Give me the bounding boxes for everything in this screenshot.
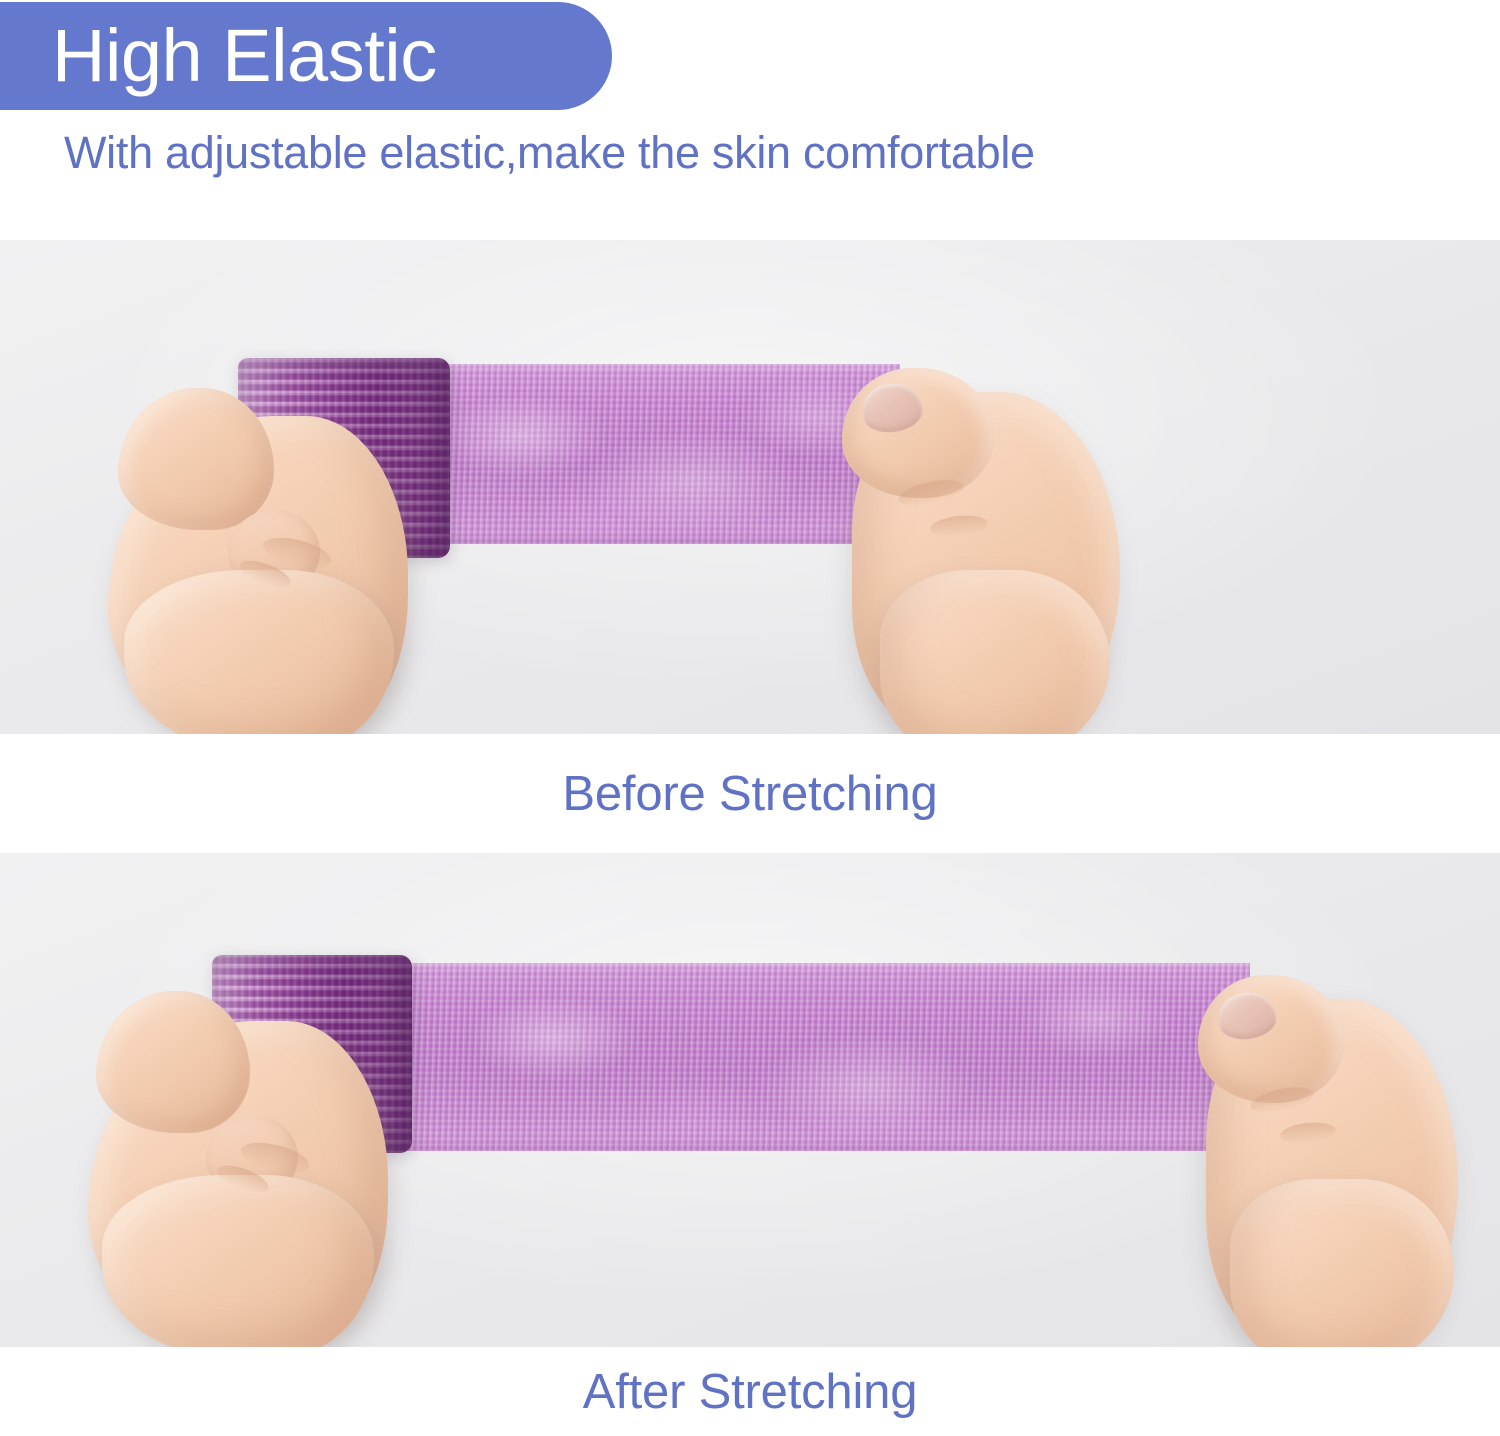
subtitle: With adjustable elastic,make the skin co… — [64, 128, 1035, 178]
product-infographic: High Elastic With adjustable elastic,mak… — [0, 0, 1500, 1436]
caption-band-before: Before Stretching — [0, 734, 1500, 853]
photo-before-stretching — [0, 240, 1500, 734]
photo-after-stretching — [0, 853, 1500, 1347]
bandage-strip-before — [438, 364, 900, 544]
bandage-strip-after — [400, 963, 1250, 1151]
caption-band-after: After Stretching — [0, 1347, 1500, 1436]
photo-panel-after — [0, 853, 1500, 1347]
photo-panel-before — [0, 240, 1500, 734]
caption-after-stretching: After Stretching — [583, 1364, 918, 1420]
caption-before-stretching: Before Stretching — [562, 766, 937, 822]
header: High Elastic With adjustable elastic,mak… — [0, 0, 1500, 240]
title-badge: High Elastic — [0, 2, 612, 110]
page-title: High Elastic — [0, 19, 437, 93]
